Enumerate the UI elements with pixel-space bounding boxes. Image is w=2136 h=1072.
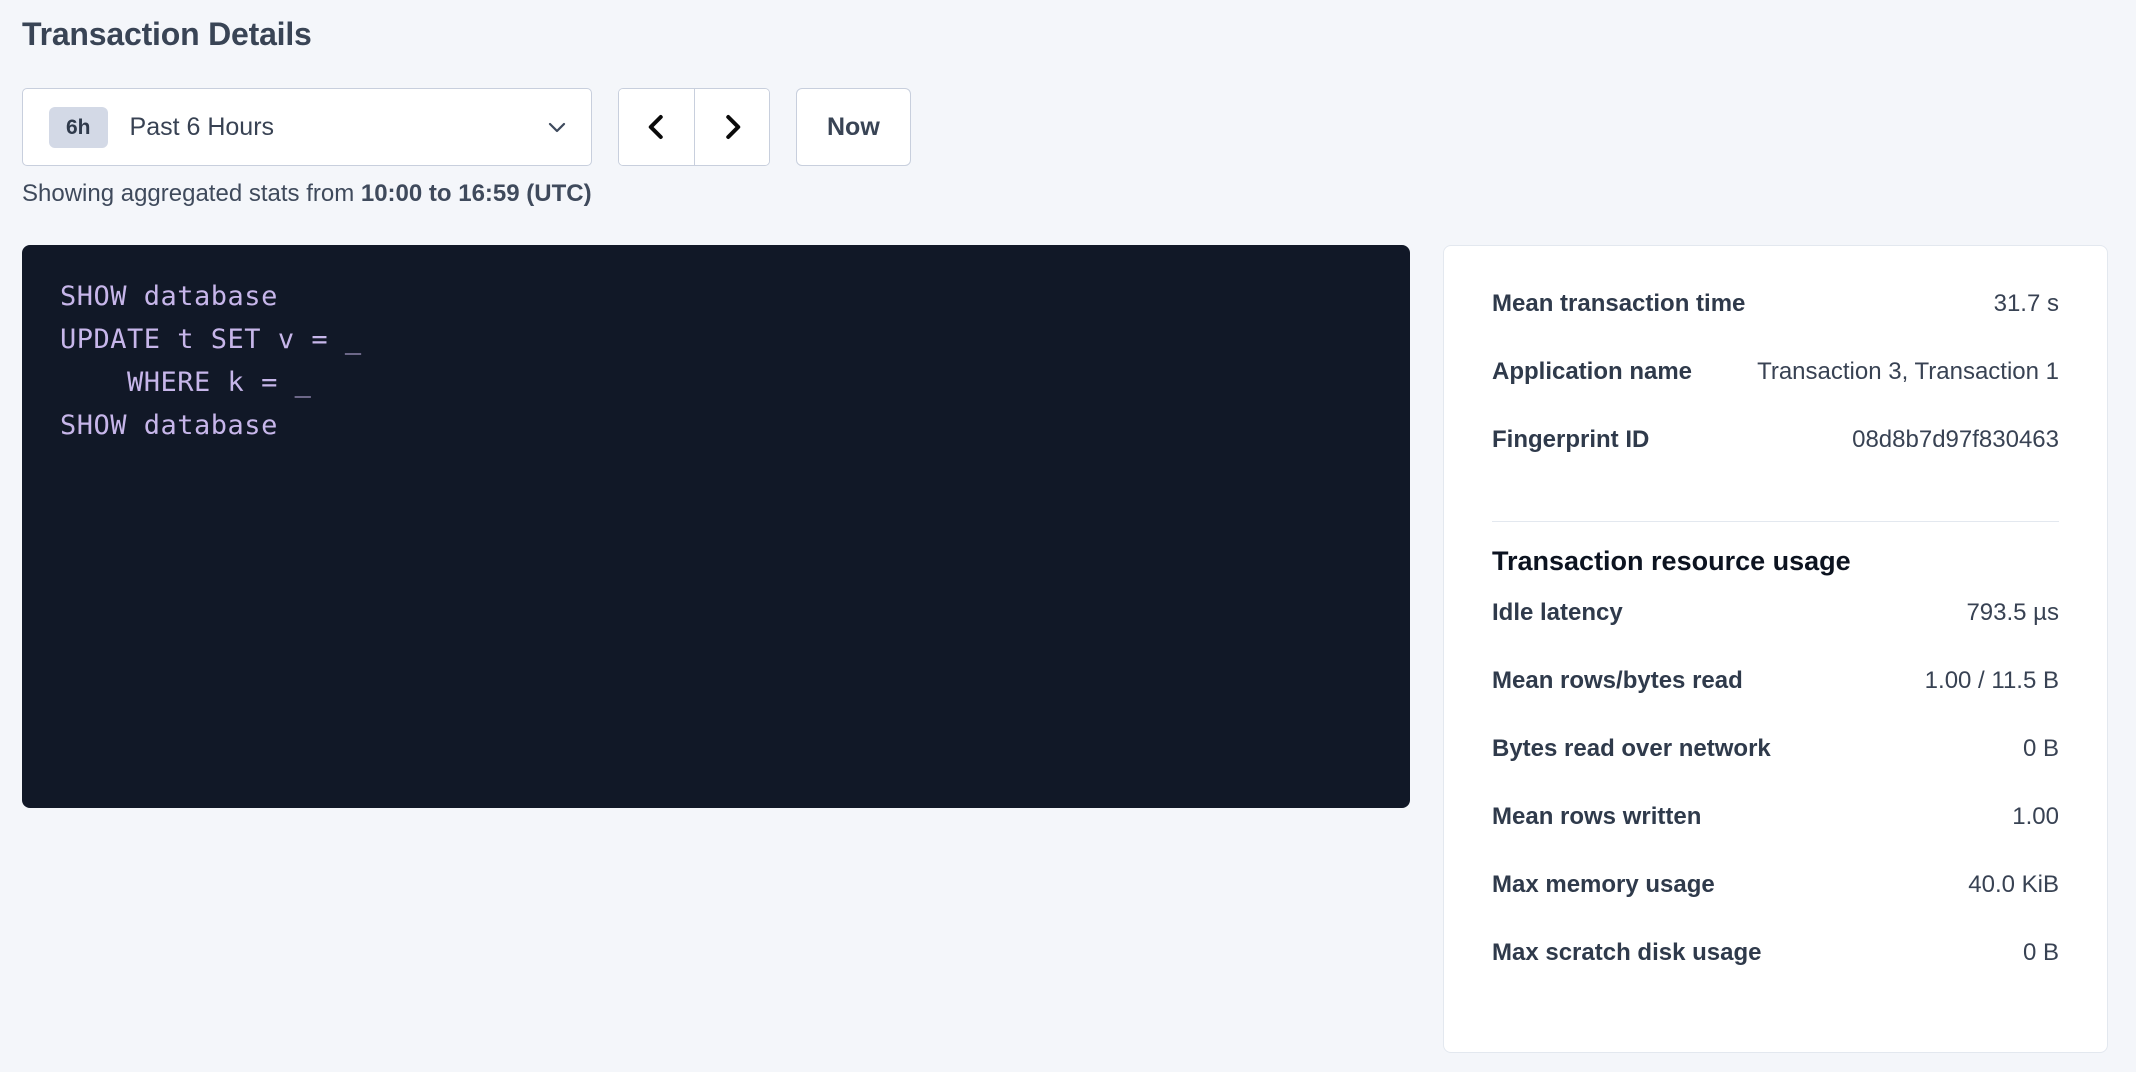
- stat-row: Max scratch disk usage 0 B: [1492, 939, 2059, 1007]
- code-line: SHOW database: [60, 404, 1410, 447]
- stat-value: 31.7 s: [1994, 290, 2059, 318]
- time-range-select[interactable]: 6h Past 6 Hours: [22, 88, 592, 166]
- page-title: Transaction Details: [22, 16, 312, 53]
- stat-label: Fingerprint ID: [1492, 426, 1649, 454]
- stat-label: Bytes read over network: [1492, 735, 1771, 763]
- resource-usage-title: Transaction resource usage: [1492, 546, 2059, 577]
- transaction-stats-card: Mean transaction time 31.7 s Application…: [1443, 245, 2108, 1053]
- time-nav-group: [618, 88, 770, 166]
- stat-row: Bytes read over network 0 B: [1492, 735, 2059, 803]
- stat-row: Idle latency 793.5 µs: [1492, 599, 2059, 667]
- stat-value: 0 B: [2023, 939, 2059, 967]
- code-line: SHOW database: [60, 275, 1410, 318]
- code-line: WHERE k = _: [60, 361, 1410, 404]
- stat-value: 40.0 KiB: [1968, 871, 2059, 899]
- time-range-label: Past 6 Hours: [130, 113, 545, 142]
- section-divider: [1492, 521, 2059, 522]
- stat-row: Mean rows/bytes read 1.00 / 11.5 B: [1492, 667, 2059, 735]
- next-period-button[interactable]: [694, 89, 769, 165]
- stat-label: Max scratch disk usage: [1492, 939, 1761, 967]
- time-range-toolbar: 6h Past 6 Hours Now: [22, 88, 911, 166]
- chevron-left-icon: [642, 112, 672, 142]
- chevron-right-icon: [717, 112, 747, 142]
- stat-label: Max memory usage: [1492, 871, 1715, 899]
- time-range-badge: 6h: [49, 107, 108, 148]
- aggregation-range-text: Showing aggregated stats from 10:00 to 1…: [22, 180, 592, 208]
- stat-row: Fingerprint ID 08d8b7d97f830463: [1492, 426, 2059, 494]
- aggregation-range-prefix: Showing aggregated stats from: [22, 180, 361, 207]
- sql-code-panel: SHOW database UPDATE t SET v = _ WHERE k…: [22, 245, 1410, 808]
- stat-label: Mean rows/bytes read: [1492, 667, 1743, 695]
- chevron-down-icon: [545, 115, 569, 139]
- stat-row: Mean rows written 1.00: [1492, 803, 2059, 871]
- now-button[interactable]: Now: [796, 88, 911, 166]
- stat-value: 0 B: [2023, 735, 2059, 763]
- stat-row: Application name Transaction 3, Transact…: [1492, 358, 2059, 426]
- stat-value: Transaction 3, Transaction 1: [1757, 358, 2059, 386]
- stat-row: Mean transaction time 31.7 s: [1492, 290, 2059, 358]
- stat-label: Idle latency: [1492, 599, 1623, 627]
- stat-row: Max memory usage 40.0 KiB: [1492, 871, 2059, 939]
- stat-label: Mean transaction time: [1492, 290, 1745, 318]
- stat-value: 1.00: [2012, 803, 2059, 831]
- aggregation-range-value: 10:00 to 16:59 (UTC): [361, 180, 592, 207]
- stat-value: 08d8b7d97f830463: [1852, 426, 2059, 454]
- transaction-details-page: Transaction Details 6h Past 6 Hours Now: [0, 0, 2136, 1072]
- code-line: UPDATE t SET v = _: [60, 318, 1410, 361]
- stat-value: 793.5 µs: [1966, 599, 2059, 627]
- previous-period-button[interactable]: [619, 89, 694, 165]
- stat-value: 1.00 / 11.5 B: [1925, 667, 2059, 695]
- stat-label: Mean rows written: [1492, 803, 1701, 831]
- stat-label: Application name: [1492, 358, 1692, 386]
